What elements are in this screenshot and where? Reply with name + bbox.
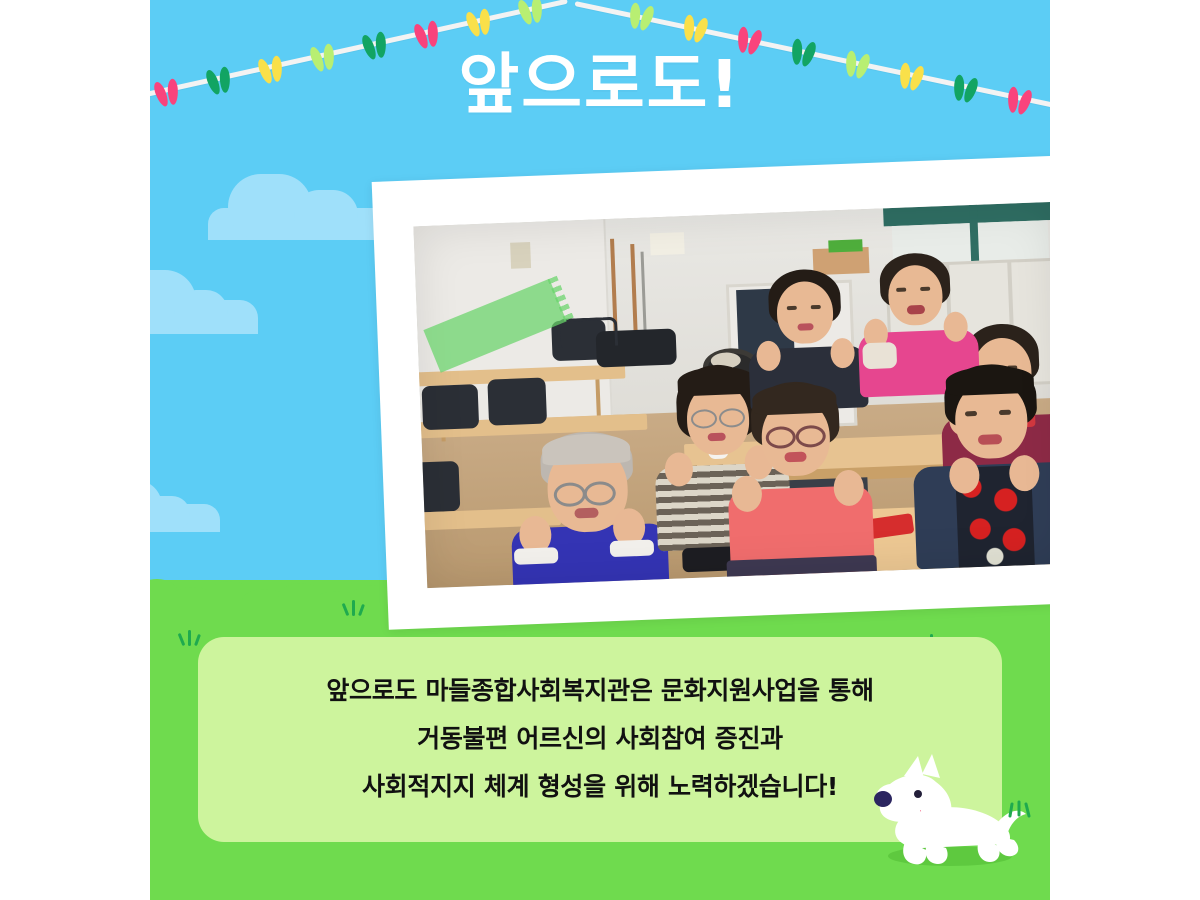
- cloud-behind-tape: [208, 168, 398, 240]
- bow-icon: [682, 14, 709, 44]
- grass-tuft-icon: [344, 598, 370, 616]
- cloud-left-lower: [150, 476, 220, 532]
- running-dog-icon: [862, 752, 1032, 872]
- poster-root: 앞으로도!: [0, 0, 1200, 900]
- bow-icon: [466, 8, 493, 38]
- cloud-left-upper: [150, 262, 258, 332]
- photo-frame: [372, 154, 1050, 629]
- page-title: 앞으로도!: [150, 52, 1050, 118]
- poster-card: 앞으로도!: [150, 0, 1050, 900]
- group-photo: [413, 202, 1050, 588]
- bow-icon: [518, 0, 545, 26]
- photo-vignette: [413, 202, 1050, 588]
- bow-icon: [414, 20, 441, 50]
- grass-tuft-icon: [180, 628, 206, 646]
- bow-icon: [628, 2, 655, 32]
- message-line-1: 앞으로도 마들종합사회복지관은 문화지원사업을 통해: [198, 667, 1002, 715]
